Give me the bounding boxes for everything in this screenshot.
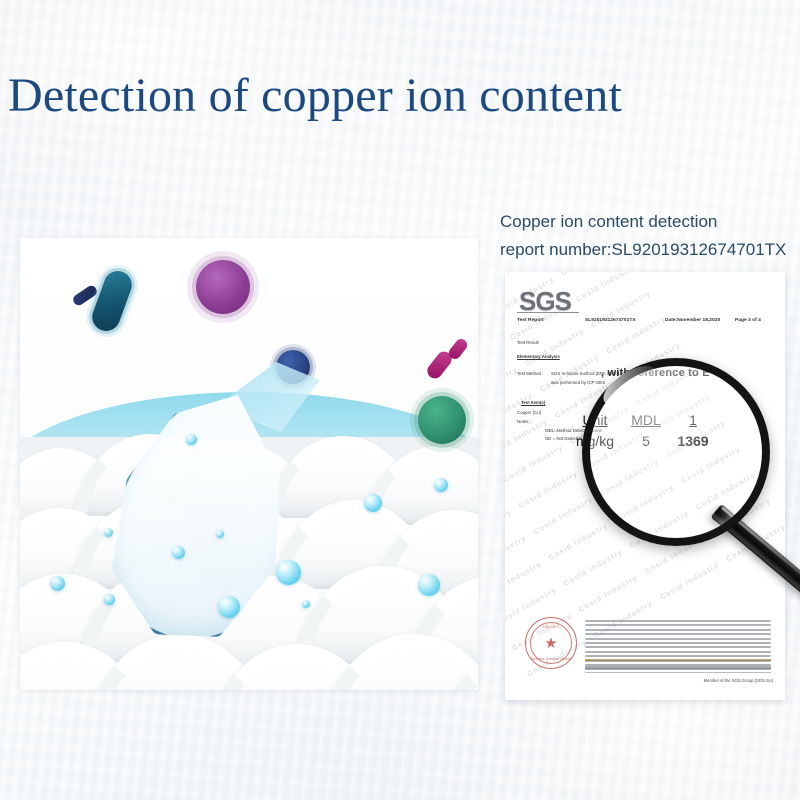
test-items-label: Test Item(s) [521, 400, 545, 405]
caption-line-1: Copper ion content detection [500, 208, 800, 236]
section-title: Elementary Analysis [517, 354, 560, 359]
microbe-purple-virus [196, 260, 250, 314]
stamp-top-text: SGS-CSTC [526, 625, 576, 629]
report-date: Date:November 18,2020 [665, 318, 720, 323]
microbe-green-virus [418, 396, 466, 444]
footer-member-text: Member of the SGS Group (SGS SA) [704, 678, 773, 683]
copper-ion-bubble [364, 494, 382, 512]
page-title: Detection of copper ion content [8, 68, 792, 124]
test-report-label: Test Report [517, 318, 544, 323]
report-number: SL92019312674701TX [585, 318, 636, 323]
poster-canvas: Detection of copper ion content [0, 0, 800, 800]
copper-ion-bubble [434, 478, 448, 492]
copper-ion-bubble [302, 600, 310, 608]
product-photo [20, 238, 478, 690]
copper-ion-bubble [418, 574, 440, 596]
copper-ion-bubble [172, 546, 185, 559]
sgs-red-stamp: SGS-CSTC ★ Standards Technical Services [525, 617, 577, 669]
copper-ion-bubble [186, 434, 197, 445]
copper-ion-bubble [104, 594, 115, 605]
magnifier-lens [582, 358, 770, 546]
test-method-label: Test Method : [517, 371, 543, 376]
test-method-line-2: was performed by ICP-OES [551, 380, 605, 385]
footer-rule [585, 672, 771, 673]
footer-link-line [585, 659, 771, 661]
copper-ion-bubble [216, 530, 224, 538]
header-rule [517, 312, 579, 313]
test-result-label: Test Result [517, 340, 539, 345]
test-item-copper: Copper (Cu) [517, 410, 541, 415]
stamp-bottom-text: Standards Technical Services [526, 657, 576, 661]
footer-address-line [585, 666, 771, 669]
copper-ion-bubble [218, 596, 240, 618]
page-number: Page 3 of 4 [735, 318, 761, 323]
report-caption: Copper ion content detection report numb… [500, 208, 800, 264]
footer-fine-print [585, 620, 771, 673]
copper-ion-bubble [50, 576, 65, 591]
copper-ion-bubble [104, 528, 113, 537]
notes-label: Notes : [517, 419, 531, 424]
caption-line-2: report number:SL92019312674701TX [500, 236, 800, 264]
copper-ion-bubble [276, 560, 301, 585]
